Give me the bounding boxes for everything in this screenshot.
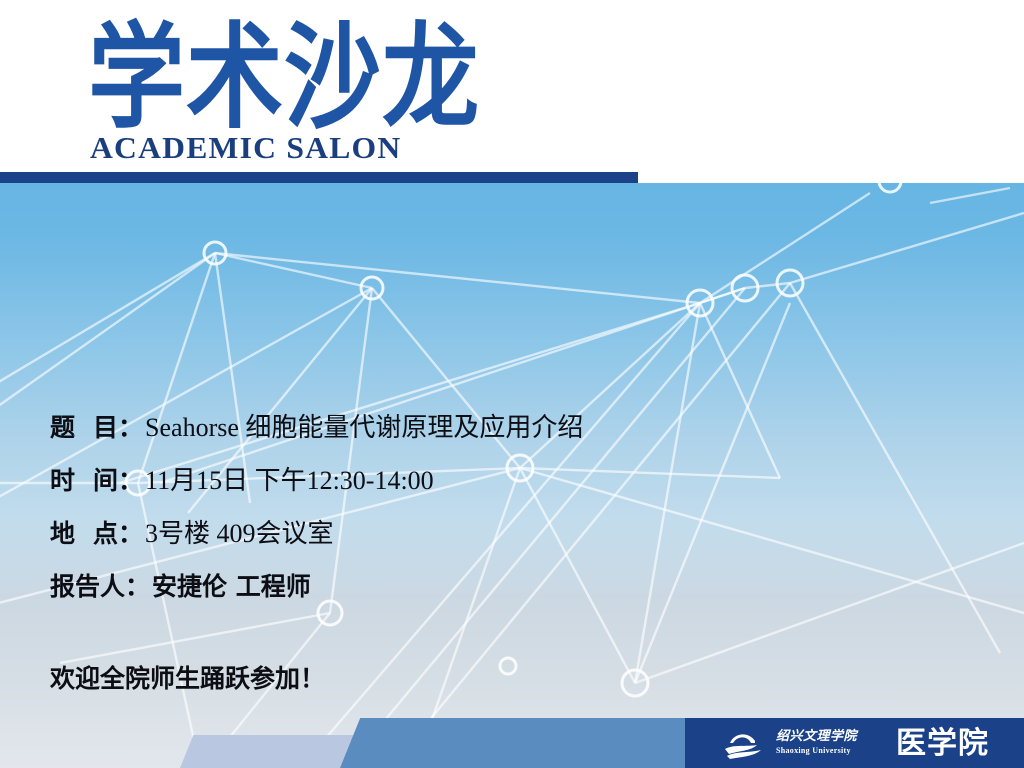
shaoxing-emblem-icon (724, 730, 768, 760)
university-name-en: Shaoxing University (776, 746, 888, 756)
footer-band-mid-fill (465, 718, 685, 768)
detail-value-topic: Seahorse 细胞能量代谢原理及应用介绍 (143, 413, 583, 442)
detail-value-time: 11月15日 下午12:30-14:00 (143, 466, 434, 495)
detail-row-time: 时间：11月15日 下午12:30-14:00 (50, 454, 750, 507)
poster-body: 题目：Seahorse 细胞能量代谢原理及应用介绍 时间：11月15日 下午12… (0, 183, 1024, 768)
brand-title-cn: 学术沙龙 (88, 12, 458, 144)
event-details-block: 题目：Seahorse 细胞能量代谢原理及应用介绍 时间：11月15日 下午12… (50, 401, 750, 613)
detail-row-location: 地点：3号楼 409会议室 (50, 507, 750, 560)
detail-row-speaker: 报告人：安捷伦 工程师 (50, 560, 750, 613)
brand-title-en: ACADEMIC SALON (90, 130, 465, 166)
poster-slide: 学术沙龙 ACADEMIC SALON (0, 0, 1024, 768)
detail-label-topic: 题目： (50, 413, 143, 442)
detail-label-time: 时间： (50, 466, 143, 495)
detail-label-speaker: 报告人： (50, 572, 150, 601)
detail-value-speaker: 安捷伦 工程师 (150, 572, 311, 601)
detail-label-location: 地点： (50, 519, 143, 548)
university-logo: 绍兴文理学院 Shaoxing University 医学院 (724, 726, 1014, 764)
detail-row-topic: 题目：Seahorse 细胞能量代谢原理及应用介绍 (50, 401, 750, 454)
college-name: 医学院 (896, 724, 989, 764)
university-name-cn: 绍兴文理学院 (776, 728, 886, 744)
academic-salon-logo: 学术沙龙 ACADEMIC SALON (88, 12, 458, 167)
poster-header: 学术沙龙 ACADEMIC SALON (0, 0, 1024, 173)
detail-value-location: 3号楼 409会议室 (143, 519, 334, 548)
